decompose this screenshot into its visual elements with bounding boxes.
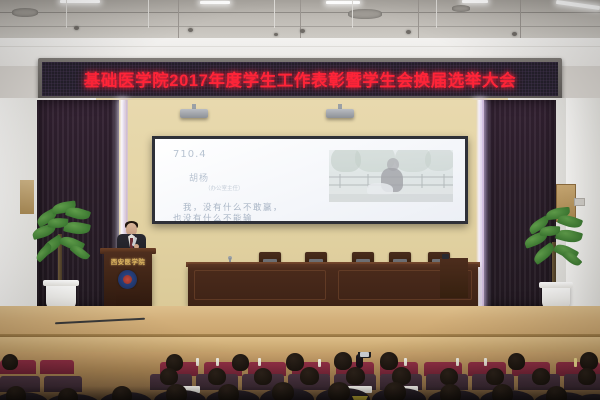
ceiling-panel-divider xyxy=(178,0,179,40)
water-bottle xyxy=(456,358,459,366)
audience-head xyxy=(486,368,504,385)
audience-head xyxy=(286,353,304,371)
audience-area xyxy=(0,352,600,400)
ceiling-panel-divider xyxy=(300,0,301,40)
upper-wall-divider xyxy=(66,0,67,28)
slide-photo xyxy=(329,150,453,202)
camera-screen xyxy=(360,352,369,357)
projector-right xyxy=(326,109,354,118)
upper-wall-divider xyxy=(352,0,353,28)
audience-head xyxy=(208,368,226,385)
audience-seat xyxy=(40,360,74,374)
plant-left xyxy=(30,196,96,312)
ceiling-spotlight xyxy=(300,29,305,33)
water-bottle xyxy=(404,358,407,366)
head-table xyxy=(188,264,478,306)
water-bottle xyxy=(216,358,219,366)
ceiling-panel-divider xyxy=(520,0,521,40)
slide-handwriting-line-3: （办公室主任） xyxy=(205,184,244,192)
audience-head xyxy=(2,354,18,370)
ceiling-vent xyxy=(12,8,38,17)
audience-head xyxy=(578,368,596,385)
ceiling-light xyxy=(462,0,488,3)
audience-head xyxy=(346,367,365,385)
upper-wall-divider xyxy=(436,0,437,28)
podium-plaque-text: 西安医学院 xyxy=(104,256,152,266)
ceiling-spotlight xyxy=(406,30,411,34)
podium-emblem-center xyxy=(123,275,132,284)
led-panel: 基础医学院2017年度学生工作表彰暨学生会换届选举大会 xyxy=(42,62,558,96)
water-bottle xyxy=(574,358,577,367)
projection-screen-surface: 710.4 胡杨 （办公室主任） 我，没有什么不敢赢， 也没有什么不能输 xyxy=(155,139,465,221)
ceiling-vent xyxy=(348,9,382,19)
projector-left xyxy=(180,109,208,118)
ceiling-panel-divider xyxy=(418,0,419,40)
audience-head xyxy=(300,367,319,385)
led-banner-text: 基础医学院2017年度学生工作表彰暨学生会换届选举大会 xyxy=(42,62,558,96)
side-cabinet-right xyxy=(440,258,468,298)
side-cabinet-item xyxy=(442,254,449,259)
audience-head xyxy=(334,352,352,370)
slide-handwriting-line-1: 710.4 xyxy=(173,149,207,160)
ceiling-spotlight xyxy=(188,28,193,32)
upper-wall-divider xyxy=(274,0,275,28)
audience-head xyxy=(232,354,249,371)
head-table-panel xyxy=(194,270,326,300)
auditorium-photo: 基础医学院2017年度学生工作表彰暨学生会换届选举大会 710.4 胡杨 （办公… xyxy=(0,0,600,400)
audience-head xyxy=(440,368,458,385)
ceiling-spotlight xyxy=(512,32,517,36)
water-bottle xyxy=(318,359,321,367)
projection-screen: 710.4 胡杨 （办公室主任） 我，没有什么不敢赢， 也没有什么不能输 xyxy=(152,136,468,224)
ceiling-light xyxy=(326,1,360,4)
ceiling-spotlight xyxy=(74,26,79,30)
slide-handwriting-line-5: 也没有什么不能输 xyxy=(173,212,253,221)
upper-wall-seam xyxy=(0,46,600,47)
audience-head xyxy=(508,353,525,370)
foreground-shadow xyxy=(0,386,600,400)
slide-handwriting-line-2: 胡杨 xyxy=(189,171,209,184)
water-bottle xyxy=(196,358,199,366)
wall-light-accent-right xyxy=(481,100,485,308)
plant-right xyxy=(524,200,586,312)
led-banner: 基础医学院2017年度学生工作表彰暨学生会换届选举大会 xyxy=(38,58,562,100)
water-bottle xyxy=(484,358,487,366)
audience-head xyxy=(254,368,272,385)
upper-wall-divider xyxy=(148,0,149,28)
water-bottle xyxy=(258,358,261,366)
audience-head xyxy=(380,352,398,370)
audience-head xyxy=(160,368,178,385)
ceiling-spotlight xyxy=(274,33,278,36)
ceiling-vent xyxy=(452,5,470,12)
audience-head xyxy=(532,368,550,385)
ceiling-light xyxy=(200,1,230,4)
